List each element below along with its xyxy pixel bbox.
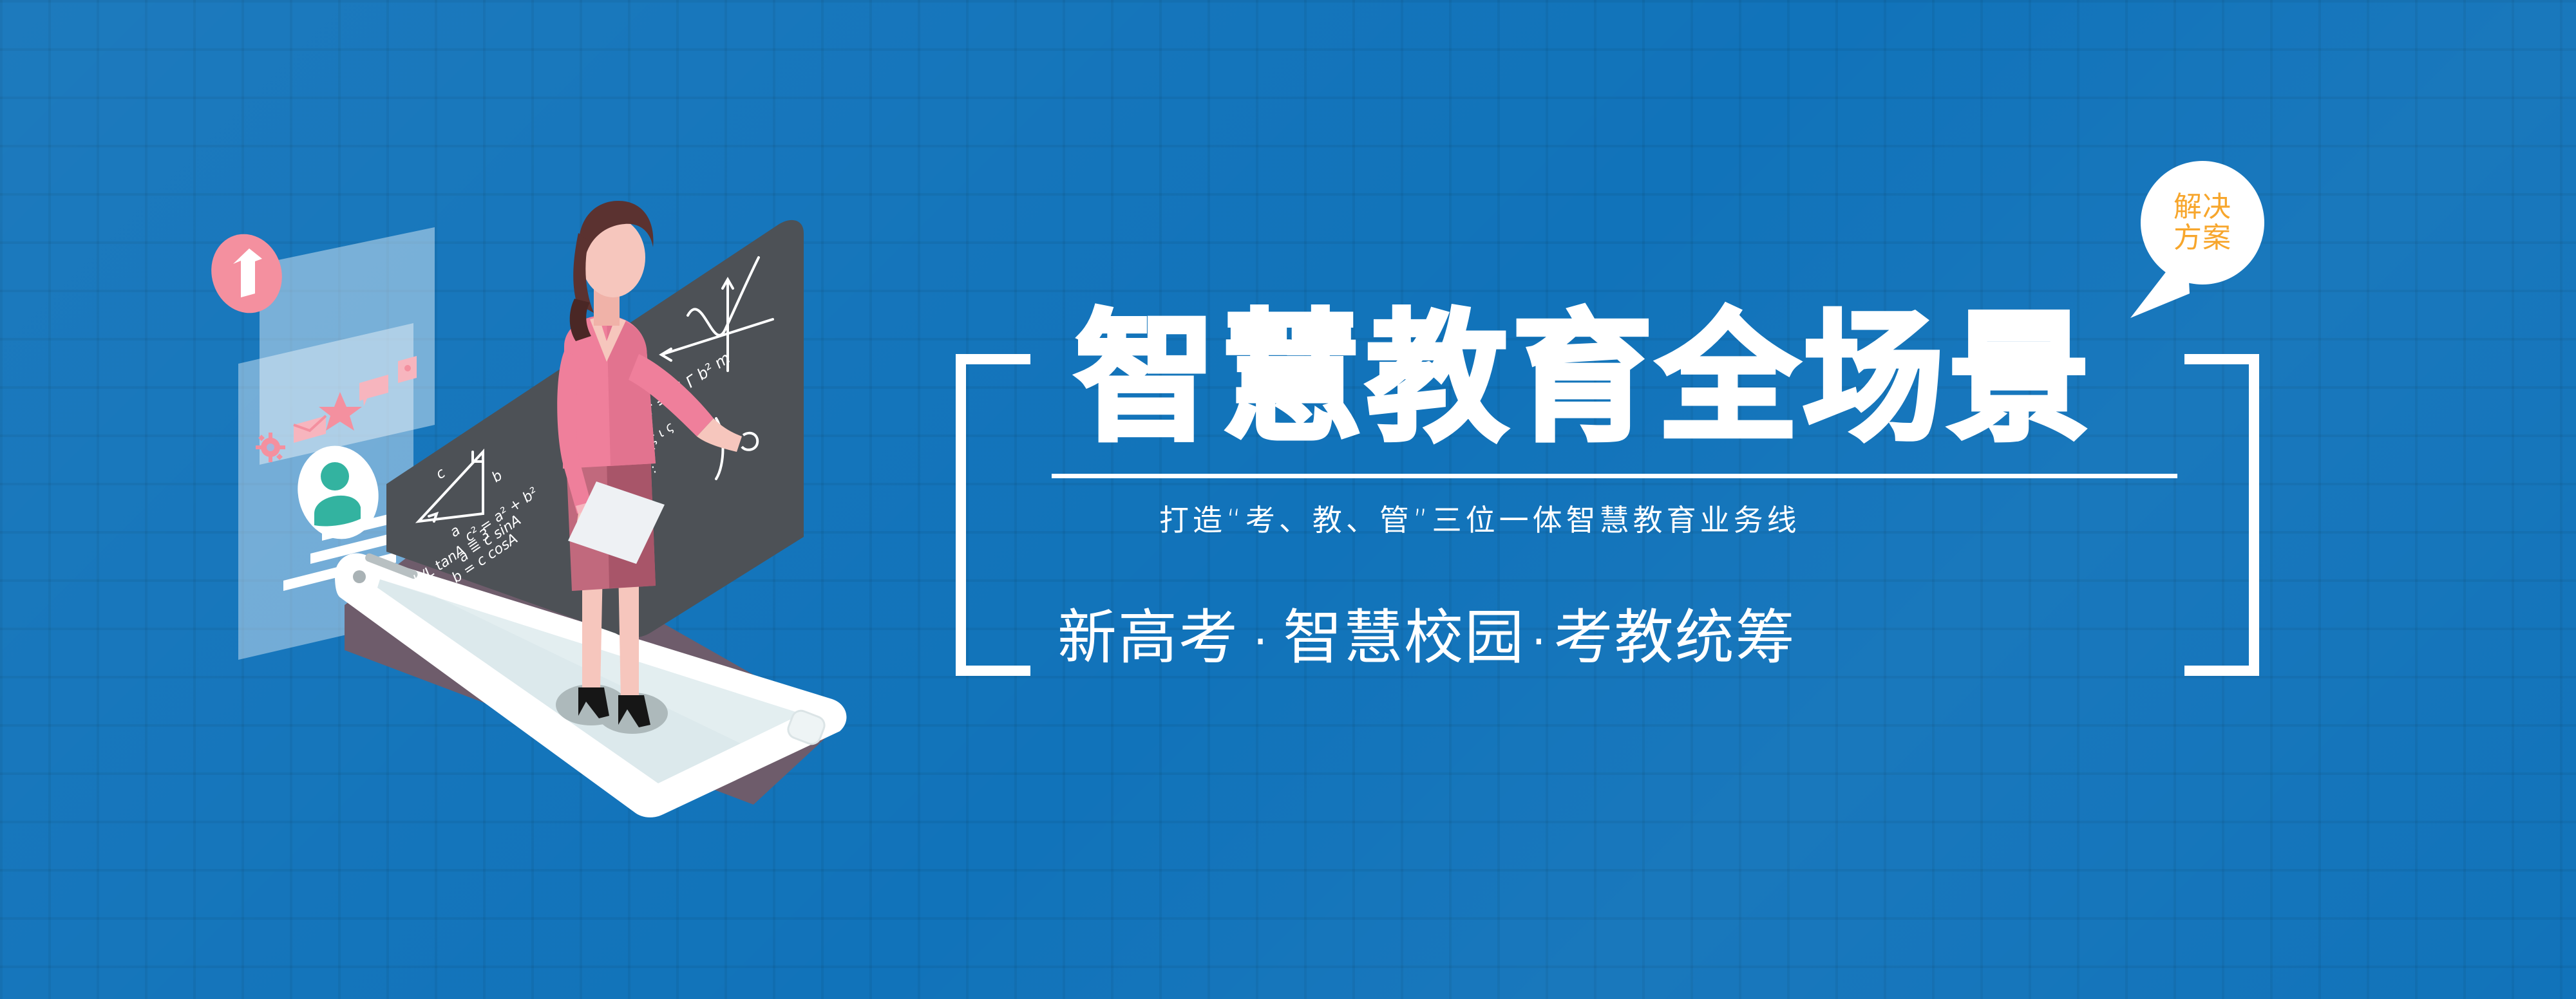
tagline-item-3: 考教统筹 (1554, 603, 1796, 672)
bracket-right (2178, 354, 2268, 676)
tagline-item-1: 新高考 (1057, 603, 1239, 672)
solution-badge: 解决 方案 (2125, 161, 2273, 328)
page-subtitle: 打造“考、教、管”三位一体智慧教育业务线 (1159, 505, 1801, 535)
tagline: 新高考·智慧校园·考教统筹 (1057, 608, 1796, 668)
hero-illustration: b c a c² = a² + b² a = c sinA b = c cosA… (174, 161, 979, 837)
bracket-left (947, 354, 1037, 676)
illustration-svg: b c a c² = a² + b² a = c sinA b = c cosA… (174, 161, 979, 837)
tagline-item-2: 智慧校园 (1283, 603, 1525, 672)
hero-text-block: 智慧教育全场景 打造“考、教、管”三位一体智慧教育业务线 新高考·智慧校园·考教… (947, 283, 2299, 721)
tagline-separator-2: · (1525, 619, 1553, 664)
badge-text: 解决 方案 (2141, 161, 2264, 285)
tagline-separator-1: · (1239, 619, 1283, 664)
page-title: 智慧教育全场景 (1075, 309, 2094, 449)
banner-root: b c a c² = a² + b² a = c sinA b = c cosA… (0, 0, 2576, 999)
badge-line-1: 解决 (2173, 192, 2231, 223)
title-divider (1052, 474, 2177, 478)
phone-camera (353, 570, 366, 583)
badge-line-2: 方案 (2173, 223, 2231, 254)
